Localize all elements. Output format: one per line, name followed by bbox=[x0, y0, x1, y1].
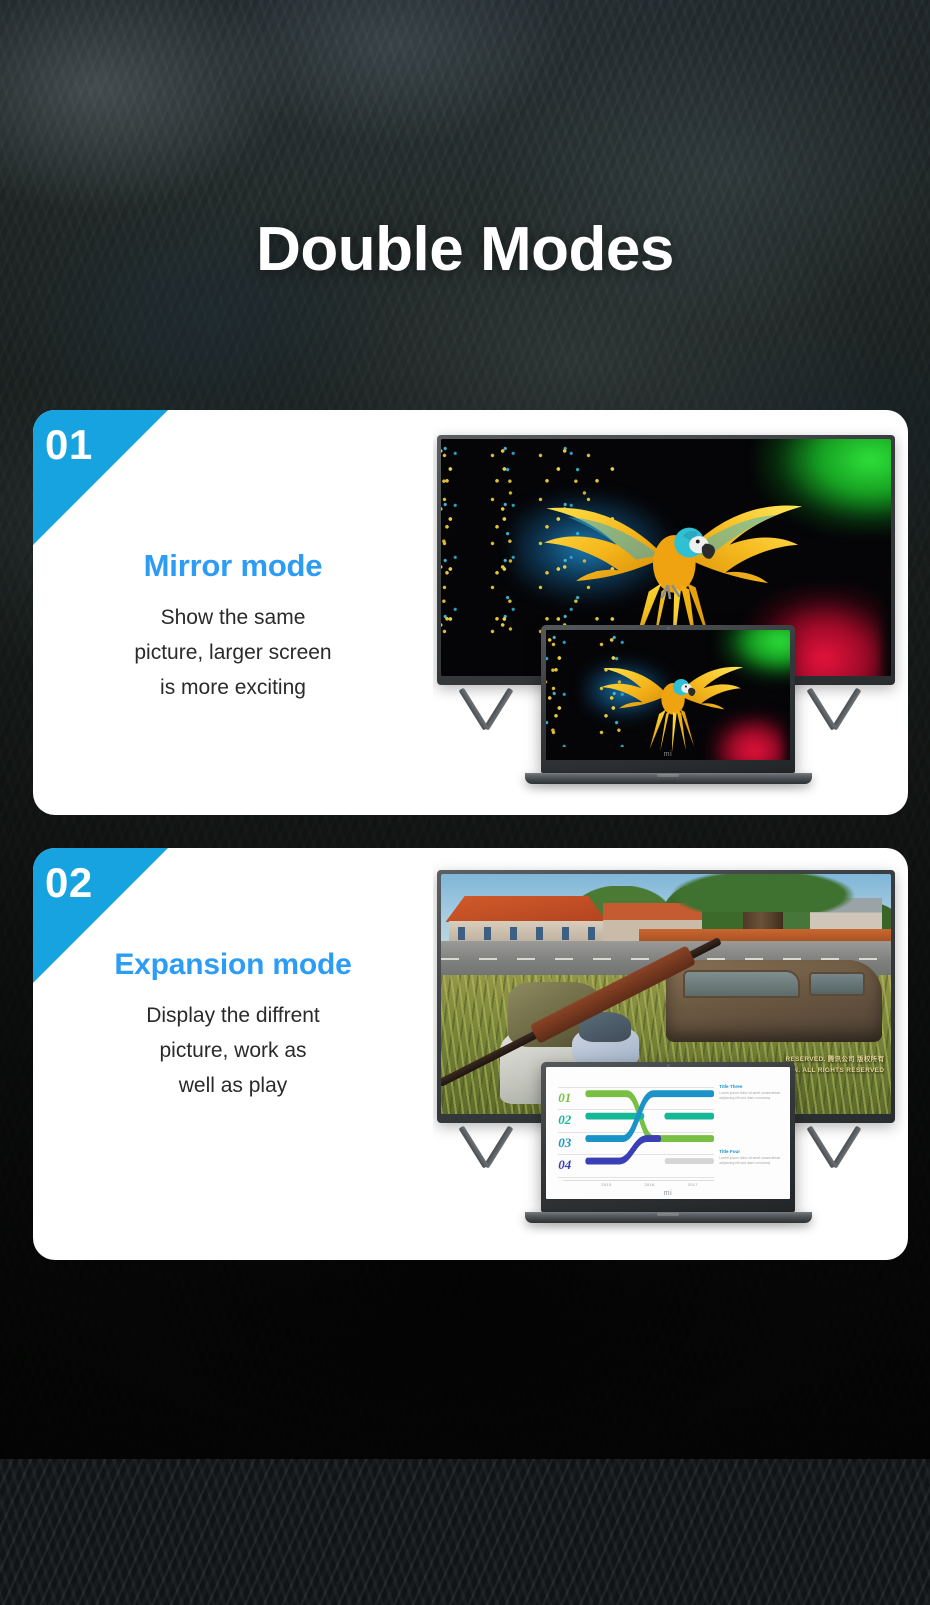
chart-row-label: 04 bbox=[558, 1158, 585, 1171]
laptop-screen: mi bbox=[546, 630, 790, 760]
chart-tick-label: 2015 bbox=[601, 1182, 611, 1187]
presentation-slide: 01 02 03 04 bbox=[546, 1067, 790, 1199]
chart-row-label: 01 bbox=[558, 1091, 585, 1104]
note-body: Lorem ipsum dolor sit amet consectetuer … bbox=[719, 1091, 785, 1102]
description-line: picture, larger screen bbox=[83, 636, 383, 671]
laptop: 01 02 03 04 bbox=[541, 1062, 795, 1212]
tv-leg-left bbox=[463, 1123, 521, 1167]
description-line: Show the same bbox=[83, 601, 383, 636]
expansion-mode-media: RESERVED. 腾讯公司 版权所有 TION. ALL RIGHTS RES… bbox=[433, 848, 908, 1260]
chart-tick-label: 2016 bbox=[644, 1182, 654, 1187]
chart-lines bbox=[585, 1080, 715, 1178]
mode-description: Show the same picture, larger screen is … bbox=[33, 601, 433, 706]
note-body: Lorem ipsum dolor sit amet consectetuer … bbox=[719, 1156, 785, 1167]
mode-title: Mirror mode bbox=[33, 548, 433, 584]
card-text-block: Mirror mode Show the same picture, large… bbox=[33, 548, 433, 706]
laptop-base bbox=[525, 773, 812, 784]
description-line: picture, work as bbox=[83, 1034, 383, 1069]
note-heading: Title Three bbox=[719, 1084, 785, 1089]
mode-title: Expansion mode bbox=[33, 948, 433, 982]
card-text-block: Expansion mode Display the diffrent pict… bbox=[33, 948, 433, 1104]
laptop-brand-logo: mi bbox=[664, 751, 672, 758]
note-heading: Title Four bbox=[719, 1149, 785, 1154]
chart-axis-line bbox=[563, 1180, 714, 1181]
laptop-lid: mi bbox=[541, 625, 795, 773]
chart-tick-label: 2017 bbox=[688, 1182, 698, 1187]
parrot-eye bbox=[696, 540, 700, 544]
laptop-base bbox=[525, 1212, 812, 1223]
tv-leg-right bbox=[811, 1123, 869, 1167]
laptop-brand-logo: mi bbox=[664, 1190, 672, 1197]
mirror-mode-media: mi bbox=[433, 410, 908, 815]
chart-row-label: 03 bbox=[558, 1136, 585, 1149]
chart-x-axis-labels: 2015 2016 2017 bbox=[585, 1182, 715, 1187]
description-line: well as play bbox=[83, 1069, 383, 1104]
badge-number: 01 bbox=[45, 424, 93, 466]
tv-leg-left bbox=[463, 685, 521, 729]
page-title: Double Modes bbox=[0, 214, 930, 285]
car-window-rear bbox=[809, 972, 865, 996]
chart-row-label: 02 bbox=[558, 1113, 585, 1126]
laptop-screen: 01 02 03 04 bbox=[546, 1067, 790, 1199]
badge-number: 02 bbox=[45, 862, 93, 904]
mode-description: Display the diffrent picture, work as we… bbox=[33, 999, 433, 1104]
feature-card-mirror-mode: 01 Mirror mode Show the same picture, la… bbox=[33, 410, 908, 815]
laptop-lid: 01 02 03 04 bbox=[541, 1062, 795, 1212]
parrot-left-wing bbox=[544, 508, 659, 581]
tv-leg-right bbox=[811, 685, 869, 729]
macaw-parrot-illustration-small bbox=[566, 638, 766, 755]
slide-note-three: Title Three Lorem ipsum dolor sit amet c… bbox=[719, 1084, 785, 1102]
bump-chart: 01 02 03 04 bbox=[558, 1080, 714, 1178]
feature-card-expansion-mode: 02 Expansion mode Display the diffrent p… bbox=[33, 848, 908, 1260]
description-line: is more exciting bbox=[83, 671, 383, 706]
parrot-artwork-mirrored bbox=[546, 630, 790, 760]
corner-ribbon-badge: 01 bbox=[33, 410, 168, 545]
description-line: Display the diffrent bbox=[83, 999, 383, 1034]
laptop: mi bbox=[541, 625, 795, 773]
slide-note-four: Title Four Lorem ipsum dolor sit amet co… bbox=[719, 1149, 785, 1167]
